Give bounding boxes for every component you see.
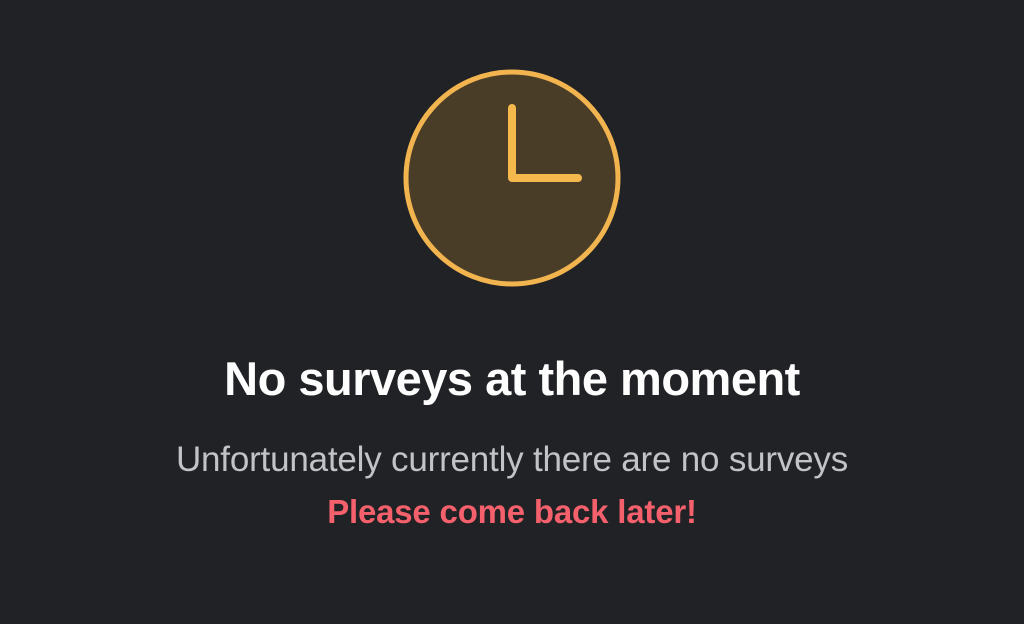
empty-state-cta-message: Please come back later! xyxy=(327,494,697,530)
empty-state-container: No surveys at the moment Unfortunately c… xyxy=(0,0,1024,624)
clock-icon xyxy=(396,62,628,294)
empty-state-text-block: No surveys at the moment Unfortunately c… xyxy=(0,354,1024,530)
page-title: No surveys at the moment xyxy=(224,354,800,403)
empty-state-subtitle: Unfortunately currently there are no sur… xyxy=(176,441,848,480)
